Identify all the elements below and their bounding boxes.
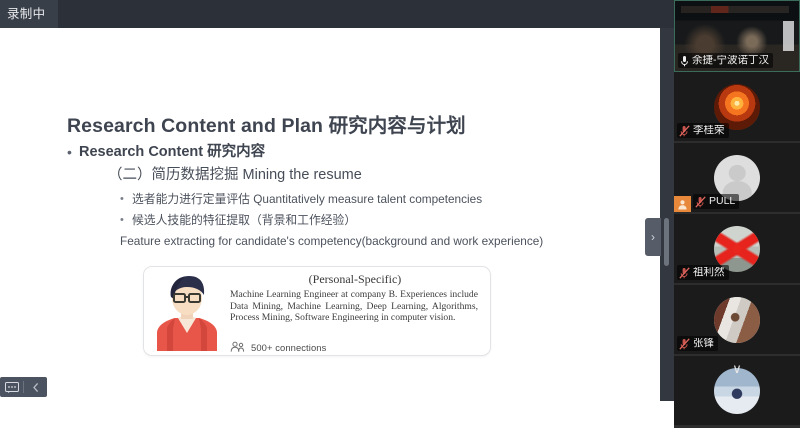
meeting-top-bar: 录制中	[0, 0, 672, 28]
microphone-icon	[680, 55, 689, 67]
participant-name: 祖利然	[693, 267, 725, 278]
bullet-dot-icon: •	[120, 191, 132, 207]
video-bright-pane	[783, 21, 794, 51]
collapse-toolbar-button[interactable]	[24, 377, 47, 397]
zoom-meeting-window: 录制中 Research Content and Plan 研究内容与计划 • …	[0, 0, 800, 428]
participant-name: PULL	[709, 196, 735, 207]
chevron-right-icon: ›	[651, 231, 655, 243]
participant-tile[interactable]: 祖利然	[674, 214, 800, 285]
chat-bubble-icon	[5, 382, 19, 393]
microphone-muted-icon	[679, 125, 690, 137]
chat-button[interactable]	[0, 377, 23, 397]
participant-tile[interactable]: 李桂荣	[674, 72, 800, 143]
person-illustration-avatar	[151, 273, 223, 351]
participant-tile[interactable]: 余捷-宁波诺丁汉	[674, 0, 800, 72]
resume-avatar-cell	[144, 267, 230, 355]
bullet-level3-item-a: • 选者能力进行定量评估 Quantitatively measure tale…	[120, 191, 482, 207]
bullet-level3-item-b: • 候选人技能的特征提取（背景和工作经验）	[120, 212, 356, 228]
resume-card-body: Machine Learning Engineer at company B. …	[230, 289, 480, 324]
people-group-icon	[230, 341, 245, 353]
microphone-muted-icon	[679, 338, 690, 350]
participant-tile[interactable]: PULL	[674, 143, 800, 214]
shared-screen-area: Research Content and Plan 研究内容与计划 • Rese…	[0, 28, 660, 401]
host-badge	[674, 196, 691, 212]
participant-tile[interactable]: 张锋	[674, 285, 800, 356]
microphone-muted-icon	[695, 196, 706, 208]
participant-name-bar: 张锋	[677, 336, 718, 351]
recording-status-chip[interactable]: 录制中	[0, 0, 58, 28]
resume-text-cell: (Personal-Specific) Machine Learning Eng…	[230, 267, 490, 355]
filmstrip-collapse-handle[interactable]: ›	[645, 218, 661, 256]
presentation-slide: Research Content and Plan 研究内容与计划 • Rese…	[0, 28, 660, 401]
resume-example-card: (Personal-Specific) Machine Learning Eng…	[143, 266, 491, 356]
participant-name: 余捷-宁波诺丁汉	[692, 55, 769, 66]
recording-status-label: 录制中	[7, 8, 45, 21]
participant-name-bar: 余捷-宁波诺丁汉	[678, 53, 773, 68]
bullet-dot-icon: •	[67, 143, 79, 161]
chevron-down-icon[interactable]: ∨	[674, 356, 800, 382]
share-right-strip	[660, 28, 674, 401]
host-person-icon	[677, 199, 688, 210]
participant-name: 李桂荣	[693, 125, 725, 136]
resume-connections-label: 500+ connections	[251, 342, 326, 353]
resume-connections-row: 500+ connections	[230, 341, 326, 353]
bullet-level3-label-a: 选者能力进行定量评估 Quantitatively measure talent…	[132, 191, 482, 207]
resume-card-heading: (Personal-Specific)	[230, 272, 480, 287]
avatar-image-person	[714, 297, 760, 343]
bullet-dot-icon: •	[120, 212, 132, 228]
share-scrollbar-thumb[interactable]	[664, 218, 669, 266]
avatar	[714, 297, 760, 343]
share-float-toolbar	[0, 377, 47, 397]
bullet-level1: • Research Content 研究内容	[67, 143, 265, 161]
page-title: Research Content and Plan 研究内容与计划	[67, 109, 466, 138]
participant-tile[interactable]: ∨	[674, 356, 800, 427]
bullet-level2-label: （二）简历数据挖掘 Mining the resume	[108, 166, 362, 184]
share-bottom-strip	[0, 401, 674, 428]
microphone-muted-icon	[679, 267, 690, 279]
bullet-level3-label-b: 候选人技能的特征提取（背景和工作经验）	[132, 212, 356, 228]
bullet-level1-label: Research Content 研究内容	[79, 143, 265, 161]
participant-name-bar: PULL	[693, 194, 739, 209]
participant-filmstrip[interactable]: 余捷-宁波诺丁汉 李桂荣	[674, 0, 800, 428]
participant-name: 张锋	[693, 338, 714, 349]
collapse-left-icon	[31, 382, 41, 393]
participant-name-bar: 李桂荣	[677, 123, 729, 138]
video-banner-strip	[681, 6, 789, 13]
bullet-level4-label: Feature extracting for candidate's compe…	[120, 233, 543, 249]
participant-name-bar: 祖利然	[677, 265, 729, 280]
